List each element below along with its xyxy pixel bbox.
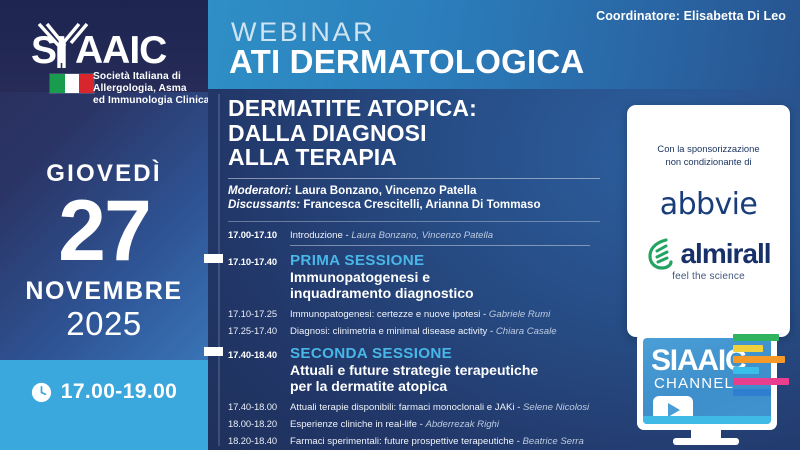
session-1-items: 17.10-17.25 Immunopatogenesi: certezze e… <box>228 306 613 339</box>
siaaic-logo: SI AAIC Società Italiana di Allergologia… <box>0 16 208 80</box>
session-2-item-1-title: Attuali terapie disponibili: farmaci mon… <box>290 400 589 415</box>
session-2-item-3-speaker: Beatrice Serra <box>523 436 584 447</box>
session-2-subtitle-line-2: per la dermatite atopica <box>290 378 613 395</box>
session-2-item-1-text: Attuali terapie disponibili: farmaci mon… <box>290 402 523 413</box>
session-2-item-2-text: Esperienze cliniche in real-life - <box>290 419 425 430</box>
sponsor-card: Con la sponsorizzazione non condizionant… <box>627 105 790 337</box>
year-label: 2025 <box>0 306 208 342</box>
session-1-item-2-text: Diagnosi: clinimetria e minimal disease … <box>290 326 496 337</box>
italian-flag-icon <box>50 74 94 93</box>
session-1-header: 17.10-17.40 PRIMA SESSIONE <box>228 252 613 269</box>
moderators-line: Moderatori: Laura Bonzano, Vincenzo Pate… <box>228 184 613 199</box>
session-1-subtitle-line-1: Immunopatogenesi e <box>290 269 613 286</box>
session-1-time: 17.10-17.40 <box>228 254 290 269</box>
day-number: 27 <box>0 190 208 272</box>
channel-strip-cyan <box>643 416 771 424</box>
schedule-row-intro: 17.00-17.10 Introduzione - Laura Bonzano… <box>228 227 613 243</box>
session-2-item-1: 17.40-18.00 Attuali terapie disponibili:… <box>228 399 613 415</box>
session-1-subtitle-line-2: inquadramento diagnostico <box>290 285 613 302</box>
session-2-tab-marker <box>204 347 223 356</box>
session-1-item-1-title: Immunopatogenesi: certezze e nuove ipote… <box>290 307 550 322</box>
intro-rule <box>290 245 590 246</box>
moderators-names: Laura Bonzano, Vincenzo Patella <box>295 184 476 197</box>
almirall-mark-icon <box>646 237 676 271</box>
session-1-item-1: 17.10-17.25 Immunopatogenesi: certezze e… <box>228 306 613 322</box>
color-bar-green <box>733 334 779 341</box>
session-1-item-2-title: Diagnosi: clinimetria e minimal disease … <box>290 324 557 339</box>
session-1-tab-marker <box>204 254 223 263</box>
almirall-wordmark: almirall <box>680 240 770 268</box>
vertical-divider <box>218 94 220 446</box>
time-range: 17.00-19.00 <box>61 380 178 404</box>
clock-icon <box>31 382 52 403</box>
intro-title: Introduzione - Laura Bonzano, Vincenzo P… <box>290 228 493 243</box>
logo-subtitle-line-3: ed Immunologia Clinica <box>93 95 223 107</box>
session-1-item-1-time: 17.10-17.25 <box>228 306 290 321</box>
header-title: ATI DERMATOLOGICA <box>229 44 584 80</box>
session-1-item-1-text: Immunopatogenesi: certezze e nuove ipote… <box>290 309 489 320</box>
color-bar-magenta <box>733 378 789 385</box>
intro-speakers: Laura Bonzano, Vincenzo Patella <box>351 230 493 241</box>
session-2-item-3-title: Farmaci sperimentali: future prospettive… <box>290 434 584 449</box>
date-block: GIOVEDÌ 27 NOVEMBRE 2025 <box>0 160 208 342</box>
moderators-rule <box>228 221 600 222</box>
color-bar-yellow <box>733 345 763 352</box>
session-2-item-3-text: Farmaci sperimentali: future prospettive… <box>290 436 523 447</box>
schedule-list: 17.00-17.10 Introduzione - Laura Bonzano… <box>228 227 613 450</box>
color-bar-cyan <box>733 367 759 374</box>
almirall-logo: almirall <box>627 237 790 271</box>
event-title-line-1: DERMATITE ATOPICA: <box>228 96 613 121</box>
session-2-items: 17.40-18.00 Attuali terapie disponibili:… <box>228 399 613 450</box>
session-1-label: PRIMA SESSIONE <box>290 252 424 269</box>
session-2-header: 17.40-18.40 SECONDA SESSIONE <box>228 345 613 362</box>
header-kicker: WEBINAR <box>231 18 375 46</box>
sponsor-lead-line-2: non condizionante di <box>627 156 790 169</box>
moderators-label: Moderatori: <box>228 184 292 197</box>
discussants-line: Discussants: Francesca Crescitelli, Aria… <box>228 198 613 213</box>
sponsor-lead-text: Con la sponsorizzazione non condizionant… <box>627 143 790 168</box>
channel-monitor-base <box>673 438 739 445</box>
session-2-item-3: 18.20-18.40 Farmaci sperimentali: future… <box>228 433 613 449</box>
color-bar-orange <box>733 356 785 363</box>
session-1-item-2: 17.25-17.40 Diagnosi: clinimetria e mini… <box>228 323 613 339</box>
time-bar: 17.00-19.00 <box>0 360 208 450</box>
svg-text:AAIC: AAIC <box>75 29 167 72</box>
event-title-line-3: ALLA TERAPIA <box>228 145 613 170</box>
channel-color-bars <box>733 334 800 400</box>
intro-title-text: Introduzione - <box>290 230 351 241</box>
discussants-label: Discussants: <box>228 198 300 211</box>
siaaic-logo-mark: SI AAIC Società Italiana di Allergologia… <box>19 16 189 80</box>
session-1-item-2-speaker: Chiara Casale <box>496 326 557 337</box>
webinar-poster: SI AAIC Società Italiana di Allergologia… <box>0 0 800 450</box>
channel-name: SIAAIC <box>651 346 745 376</box>
session-2-item-2-time: 18.00-18.20 <box>228 416 290 431</box>
discussants-names: Francesca Crescitelli, Arianna Di Tommas… <box>303 198 540 211</box>
event-title: DERMATITE ATOPICA: DALLA DIAGNOSI ALLA T… <box>228 96 613 170</box>
session-2-item-2-title: Esperienze cliniche in real-life - Abder… <box>290 417 499 432</box>
color-bar-blue <box>733 389 771 396</box>
channel-word: CHANNEL <box>654 376 734 392</box>
logo-subtitle: Società Italiana di Allergologia, Asma e… <box>93 71 223 108</box>
sponsor-lead-line-1: Con la sponsorizzazione <box>627 143 790 156</box>
session-2-item-2-speaker: Abderrezak Righi <box>425 419 499 430</box>
logo-subtitle-line-2: Allergologia, Asma <box>93 83 223 95</box>
session-2-item-1-speaker: Selene Nicolosi <box>523 402 589 413</box>
session-1-item-2-time: 17.25-17.40 <box>228 323 290 338</box>
siaaic-channel-logo: SIAAIC CHANNEL <box>615 326 800 450</box>
header-bar: WEBINAR ATI DERMATOLOGICA Coordinatore: … <box>208 0 800 89</box>
almirall-tagline: feel the science <box>627 271 790 282</box>
abbvie-logo: abbvie <box>627 187 790 222</box>
logo-subtitle-line-1: Società Italiana di <box>93 71 223 83</box>
left-panel: SI AAIC Società Italiana di Allergologia… <box>0 0 208 450</box>
event-title-line-2: DALLA DIAGNOSI <box>228 121 613 146</box>
session-2-label: SECONDA SESSIONE <box>290 345 452 362</box>
title-rule <box>228 178 600 179</box>
session-2-time: 17.40-18.40 <box>228 347 290 362</box>
coordinator-label: Coordinatore: Elisabetta Di Leo <box>596 9 786 23</box>
session-2-item-2: 18.00-18.20 Esperienze cliniche in real-… <box>228 416 613 432</box>
session-2-item-1-time: 17.40-18.00 <box>228 399 290 414</box>
program-content: DERMATITE ATOPICA: DALLA DIAGNOSI ALLA T… <box>228 96 613 450</box>
month-label: NOVEMBRE <box>0 276 208 306</box>
session-1-item-1-speaker: Gabriele Rumi <box>489 309 550 320</box>
svg-text:SI: SI <box>31 29 66 72</box>
session-2-item-3-time: 18.20-18.40 <box>228 433 290 448</box>
session-2-subtitle-line-1: Attuali e future strategie terapeutiche <box>290 362 613 379</box>
intro-time: 17.00-17.10 <box>228 227 290 242</box>
